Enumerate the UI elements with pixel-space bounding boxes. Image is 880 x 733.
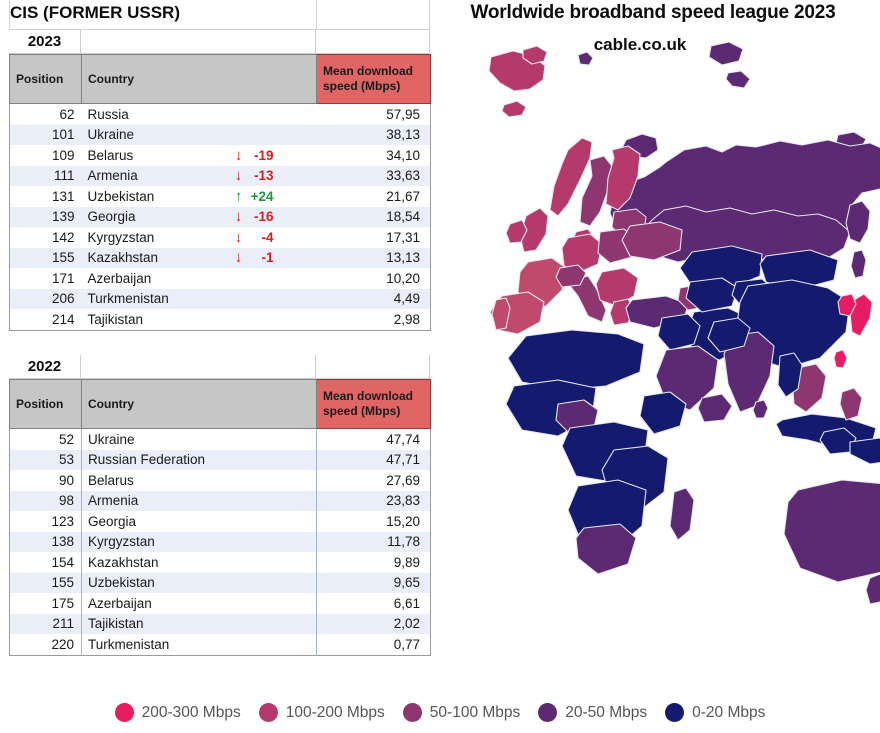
cell-position: 142	[10, 227, 82, 248]
cell-country: Ukraine	[82, 429, 317, 450]
cell-mean-download-speed: 13,13	[317, 248, 431, 269]
table-row: 123Georgia15,20	[10, 511, 431, 532]
cell-country: Russian Federation	[82, 450, 317, 471]
cell-position: 90	[10, 470, 82, 491]
table-2022-header-row: Position Country Mean download speed (Mb…	[10, 380, 431, 429]
cell-mean-download-speed: 11,78	[317, 532, 431, 553]
cell-mean-download-speed: 47,74	[317, 429, 431, 450]
rank-change-indicator: ↑+24	[232, 186, 274, 207]
table-row: 109Belarus↓-1934,10	[10, 145, 431, 166]
table-row: 139Georgia↓-1618,54	[10, 207, 431, 228]
cell-country: Russia	[82, 104, 317, 125]
year-label-2022: 2022	[9, 355, 81, 379]
cell-position: 101	[10, 125, 82, 146]
cell-country: Kazakhstan↓-1	[82, 248, 317, 269]
cell-country: Tajikistan	[82, 614, 317, 635]
country-name: Turkmenistan	[88, 291, 169, 306]
rank-change-indicator: ↓-19	[232, 145, 274, 166]
cell-mean-download-speed: 15,20	[317, 511, 431, 532]
cell-rule-left	[9, 0, 10, 29]
map-title: Worldwide broadband speed league 2023	[430, 2, 876, 24]
legend-item: 50-100 Mbps	[403, 703, 520, 722]
country-name: Kyrgyzstan	[88, 230, 155, 245]
legend-label: 200-300 Mbps	[142, 704, 241, 722]
map-legend: 200-300 Mbps100-200 Mbps50-100 Mbps20-50…	[0, 692, 880, 733]
country-name: Turkmenistan	[88, 637, 169, 652]
legend-label: 20-50 Mbps	[565, 704, 647, 722]
cell-mean-download-speed: 2,98	[317, 309, 431, 330]
cell-mean-download-speed: 38,13	[317, 125, 431, 146]
cell-country: Armenia	[82, 491, 317, 512]
cell-country: Georgia↓-16	[82, 207, 317, 228]
header-speed-2022: Mean download speed (Mbps)	[317, 380, 431, 429]
arrow-down-icon: ↓	[232, 250, 246, 265]
cell-position: 220	[10, 634, 82, 655]
cell-position: 211	[10, 614, 82, 635]
cell-country: Kyrgyzstan↓-4	[82, 227, 317, 248]
table-row: 220Turkmenistan0,77	[10, 634, 431, 655]
country-name: Belarus	[88, 148, 134, 163]
cell-position: 109	[10, 145, 82, 166]
table-row: 111Armenia↓-1333,63	[10, 166, 431, 187]
table-row: 90Belarus27,69	[10, 470, 431, 491]
cell-position: 138	[10, 532, 82, 553]
table-row: 131Uzbekistan↑+2421,67	[10, 186, 431, 207]
table-row: 98Armenia23,83	[10, 491, 431, 512]
header-position-2022: Position	[10, 380, 82, 429]
header-country-2022: Country	[82, 380, 317, 429]
cell-country: Kyrgyzstan	[82, 532, 317, 553]
legend-label: 0-20 Mbps	[692, 704, 765, 722]
cell-mean-download-speed: 6,61	[317, 593, 431, 614]
country-name: Tajikistan	[88, 312, 144, 327]
slide-canvas: Worldwide broadband speed league 2023 ca…	[0, 0, 880, 733]
cell-country: Uzbekistan	[82, 573, 317, 594]
year-row-filler-2023b	[316, 30, 430, 54]
table-row: 214Tajikistan2,98	[10, 309, 431, 330]
cell-country: Turkmenistan	[82, 289, 317, 310]
country-name: Kyrgyzstan	[88, 534, 155, 549]
country-sakhalin	[851, 250, 866, 278]
rank-change-value: -4	[248, 230, 274, 245]
legend-item: 200-300 Mbps	[115, 703, 241, 722]
cell-mean-download-speed: 2,02	[317, 614, 431, 635]
cell-country: Georgia	[82, 511, 317, 532]
cell-country: Ukraine	[82, 125, 317, 146]
year-row-filler-2022a	[81, 355, 316, 379]
rank-change-value: -19	[248, 148, 274, 163]
rank-change-value: -1	[248, 250, 274, 265]
country-name: Azerbaijan	[88, 271, 152, 286]
cell-mean-download-speed: 9,65	[317, 573, 431, 594]
legend-color-dot	[665, 703, 684, 722]
year-row-filler-2023a	[81, 30, 316, 54]
arrow-down-icon: ↓	[232, 168, 246, 183]
cell-position: 111	[10, 166, 82, 187]
header-country-2023: Country	[82, 55, 317, 104]
table-2022-body: 52Ukraine47,7453Russian Federation47,719…	[10, 429, 431, 656]
table-row: 171Azerbaijan10,20	[10, 268, 431, 289]
country-name: Uzbekistan	[88, 189, 155, 204]
cell-country: Kazakhstan	[82, 552, 317, 573]
table-2023-body: 62Russia57,95101Ukraine38,13109Belarus↓-…	[10, 104, 431, 331]
arrow-up-icon: ↑	[232, 189, 246, 204]
table-2023-header-row: Position Country Mean download speed (Mb…	[10, 55, 431, 104]
country-name: Ukraine	[88, 432, 135, 447]
cell-mean-download-speed: 17,31	[317, 227, 431, 248]
year-row-filler-2022b	[316, 355, 430, 379]
rank-change-indicator: ↓-16	[232, 207, 274, 228]
rank-change-value: -13	[248, 168, 274, 183]
table-2022: Position Country Mean download speed (Mb…	[9, 379, 431, 656]
cell-mean-download-speed: 34,10	[317, 145, 431, 166]
country-name: Kazakhstan	[88, 555, 159, 570]
arrow-down-icon: ↓	[232, 230, 246, 245]
cell-mean-download-speed: 9,89	[317, 552, 431, 573]
arrow-down-icon: ↓	[232, 148, 246, 163]
cell-position: 206	[10, 289, 82, 310]
table-row: 52Ukraine47,74	[10, 429, 431, 450]
spreadsheet-panel: CIS (FORMER USSR) 2023 Position Country …	[0, 0, 430, 690]
table-2023: Position Country Mean download speed (Mb…	[9, 54, 431, 331]
country-name: Russian Federation	[88, 452, 205, 467]
country-name: Russia	[88, 107, 129, 122]
cell-country: Armenia↓-13	[82, 166, 317, 187]
year-label-2023: 2023	[9, 30, 81, 54]
header-speed-2023: Mean download speed (Mbps)	[317, 55, 431, 104]
world-map-svg	[418, 0, 880, 690]
cell-position: 155	[10, 573, 82, 594]
country-name: Uzbekistan	[88, 575, 155, 590]
legend-color-dot	[259, 703, 278, 722]
table-row: 154Kazakhstan9,89	[10, 552, 431, 573]
cell-position: 175	[10, 593, 82, 614]
country-name: Belarus	[88, 473, 134, 488]
world-map	[418, 0, 880, 690]
panel-bottom-fill	[0, 668, 430, 694]
cell-mean-download-speed: 23,83	[317, 491, 431, 512]
cell-position: 98	[10, 491, 82, 512]
table-row: 211Tajikistan2,02	[10, 614, 431, 635]
arrow-down-icon: ↓	[232, 209, 246, 224]
legend-label: 100-200 Mbps	[286, 704, 385, 722]
rank-change-value: +24	[248, 189, 274, 204]
cell-country: Turkmenistan	[82, 634, 317, 655]
country-name: Armenia	[88, 168, 138, 183]
country-name: Ukraine	[88, 127, 135, 142]
country-name: Azerbaijan	[88, 596, 152, 611]
table-row: 101Ukraine38,13	[10, 125, 431, 146]
cell-position: 154	[10, 552, 82, 573]
legend-color-dot	[115, 703, 134, 722]
table-row: 62Russia57,95	[10, 104, 431, 125]
legend-item: 0-20 Mbps	[665, 703, 765, 722]
cell-position: 139	[10, 207, 82, 228]
cell-position: 52	[10, 429, 82, 450]
table-row: 206Turkmenistan4,49	[10, 289, 431, 310]
legend-label: 50-100 Mbps	[430, 704, 520, 722]
cell-position: 123	[10, 511, 82, 532]
cell-mean-download-speed: 4,49	[317, 289, 431, 310]
cell-position: 53	[10, 450, 82, 471]
cell-position: 62	[10, 104, 82, 125]
table-row: 53Russian Federation47,71	[10, 450, 431, 471]
header-position-2023: Position	[10, 55, 82, 104]
table-row: 138Kyrgyzstan11,78	[10, 532, 431, 553]
country-name: Georgia	[88, 514, 136, 529]
cell-country: Belarus↓-19	[82, 145, 317, 166]
country-name: Georgia	[88, 209, 136, 224]
cell-mean-download-speed: 10,20	[317, 268, 431, 289]
cell-mean-download-speed: 47,71	[317, 450, 431, 471]
cell-position: 155	[10, 248, 82, 269]
rank-change-indicator: ↓-1	[232, 248, 274, 269]
legend-color-dot	[403, 703, 422, 722]
cell-mean-download-speed: 0,77	[317, 634, 431, 655]
rank-change-indicator: ↓-4	[232, 227, 274, 248]
rank-change-value: -16	[248, 209, 274, 224]
cell-rule-mid	[316, 0, 317, 29]
cell-mean-download-speed: 57,95	[317, 104, 431, 125]
table-row: 155Kazakhstan↓-113,13	[10, 248, 431, 269]
legend-color-dot	[538, 703, 557, 722]
country-name: Tajikistan	[88, 616, 144, 631]
cell-mean-download-speed: 21,67	[317, 186, 431, 207]
cell-country: Tajikistan	[82, 309, 317, 330]
cell-country: Belarus	[82, 470, 317, 491]
legend-item: 100-200 Mbps	[259, 703, 385, 722]
cell-country: Azerbaijan	[82, 593, 317, 614]
table-row: 175Azerbaijan6,61	[10, 593, 431, 614]
cell-position: 171	[10, 268, 82, 289]
cell-mean-download-speed: 33,63	[317, 166, 431, 187]
cell-position: 214	[10, 309, 82, 330]
country-name: Armenia	[88, 493, 138, 508]
cell-country: Uzbekistan↑+24	[82, 186, 317, 207]
country-name: Kazakhstan	[88, 250, 159, 265]
cell-mean-download-speed: 27,69	[317, 470, 431, 491]
legend-item: 20-50 Mbps	[538, 703, 647, 722]
table-row: 142Kyrgyzstan↓-417,31	[10, 227, 431, 248]
cell-mean-download-speed: 18,54	[317, 207, 431, 228]
region-title: CIS (FORMER USSR)	[10, 3, 180, 23]
rank-change-indicator: ↓-13	[232, 166, 274, 187]
map-source-attribution: cable.co.uk	[430, 35, 850, 55]
table-row: 155Uzbekistan9,65	[10, 573, 431, 594]
cell-position: 131	[10, 186, 82, 207]
cell-country: Azerbaijan	[82, 268, 317, 289]
